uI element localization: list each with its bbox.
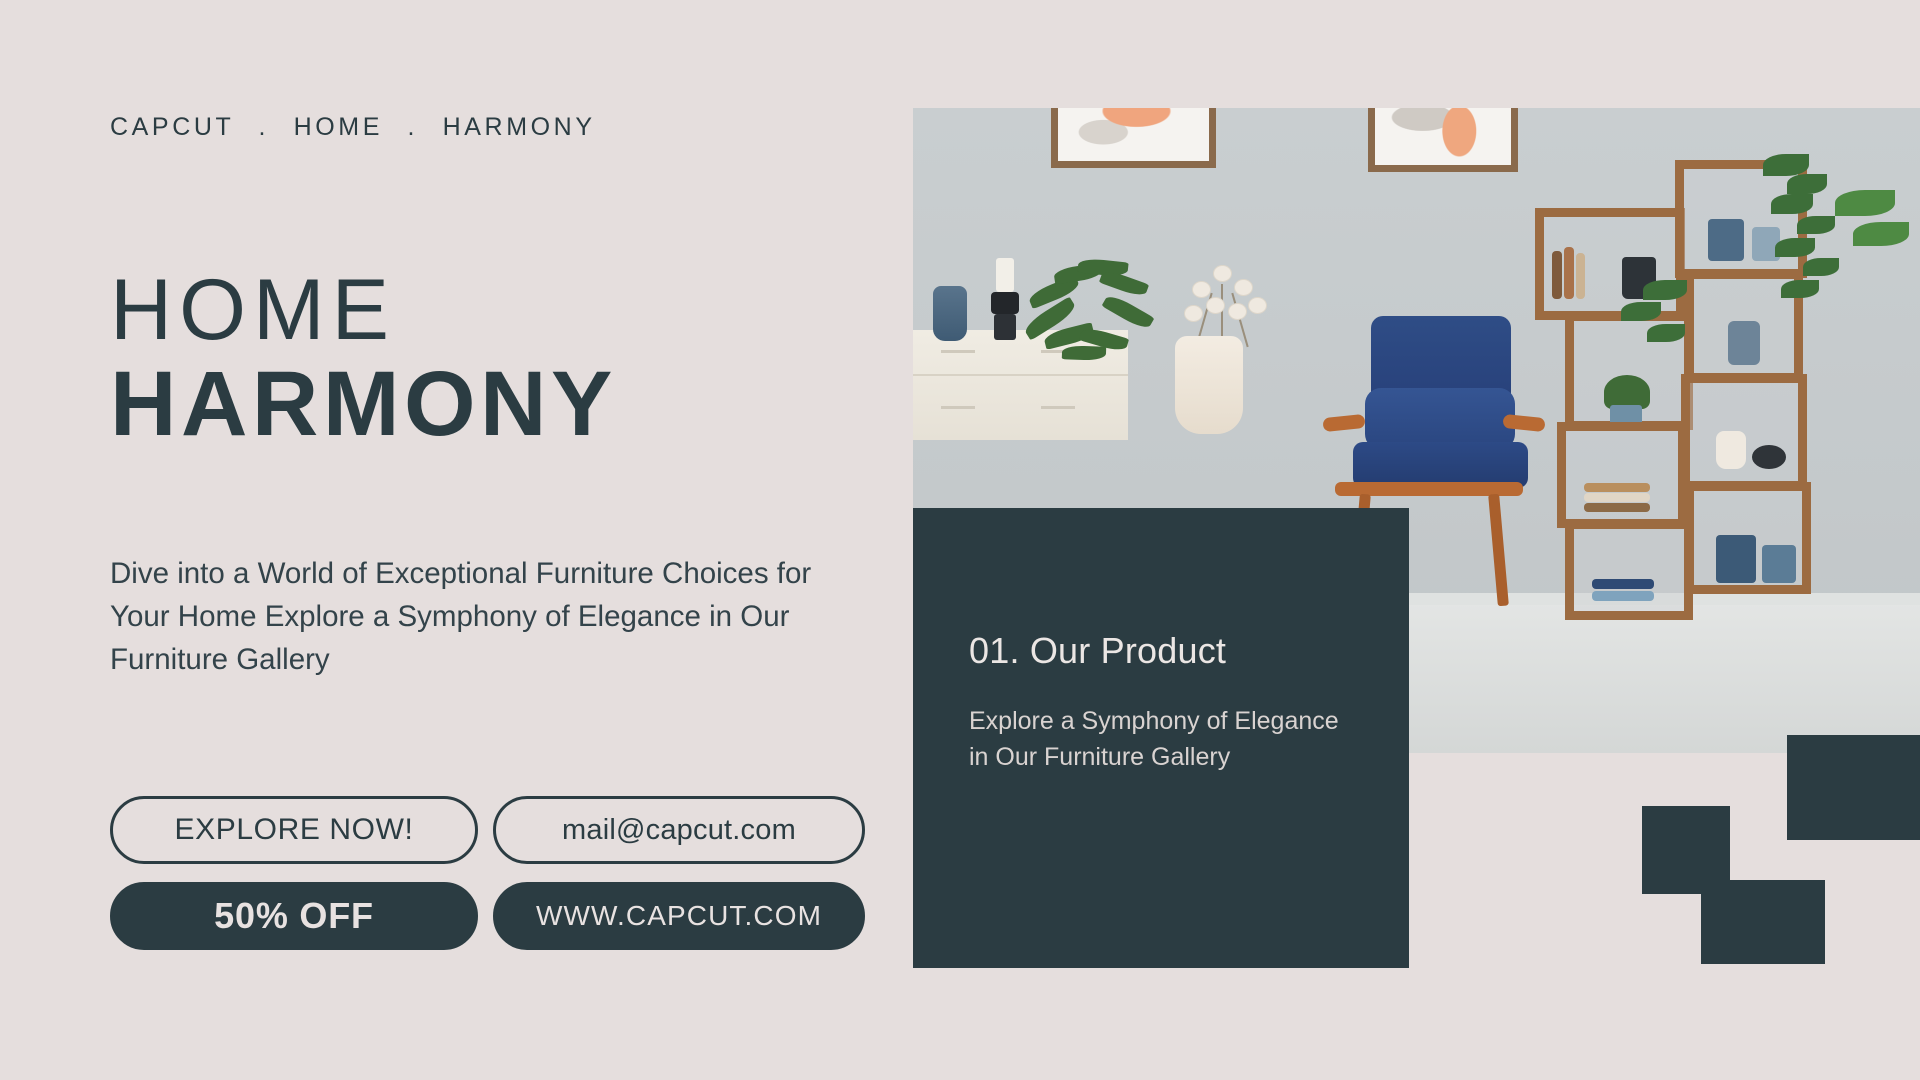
breadcrumb-item-harmony[interactable]: HARMONY: [443, 113, 596, 141]
lede-paragraph: Dive into a World of Exceptional Furnitu…: [110, 552, 840, 681]
secondary-button-row: 50% OFF WWW.CAPCUT.COM: [110, 882, 865, 950]
explore-now-button[interactable]: EXPLORE NOW!: [110, 796, 478, 864]
page-title: HOME HARMONY: [110, 268, 617, 452]
trailing-plant: [1763, 154, 1809, 176]
card-title: 01. Our Product: [969, 630, 1226, 672]
wooden-shelving-unit: [1535, 160, 1920, 640]
breadcrumb-item-home[interactable]: HOME: [294, 113, 383, 141]
cotton-vase: [1175, 336, 1243, 434]
breadcrumb-item-capcut[interactable]: CAPCUT: [110, 113, 234, 141]
framed-artwork-left: [1051, 108, 1216, 168]
breadcrumb-separator-1: .: [244, 113, 283, 141]
product-overlay-card: 01. Our Product Explore a Symphony of El…: [913, 508, 1409, 968]
blue-vase: [933, 286, 967, 341]
card-description: Explore a Symphony of Elegance in Our Fu…: [969, 704, 1349, 775]
breadcrumb-separator-2: .: [394, 113, 433, 141]
primary-button-row: EXPLORE NOW! mail@capcut.com: [110, 796, 865, 864]
decorative-square-1: [1787, 735, 1920, 840]
website-button[interactable]: WWW.CAPCUT.COM: [493, 882, 865, 950]
email-button[interactable]: mail@capcut.com: [493, 796, 865, 864]
candle-stack: [991, 258, 1019, 340]
discount-badge-button[interactable]: 50% OFF: [110, 882, 478, 950]
cotton-branch: [1163, 258, 1283, 348]
decorative-square-3: [1701, 880, 1825, 964]
framed-artwork-right: [1368, 108, 1518, 172]
fern-plant: [1018, 258, 1158, 368]
left-content-column: CAPCUT . HOME . HARMONY HOME HARMONY Div…: [110, 0, 910, 1080]
page-title-line-1: HOME: [110, 268, 617, 352]
page-title-line-2: HARMONY: [110, 358, 617, 452]
breadcrumb: CAPCUT . HOME . HARMONY: [110, 113, 596, 142]
poster-canvas: CAPCUT . HOME . HARMONY HOME HARMONY Div…: [0, 0, 1920, 1080]
